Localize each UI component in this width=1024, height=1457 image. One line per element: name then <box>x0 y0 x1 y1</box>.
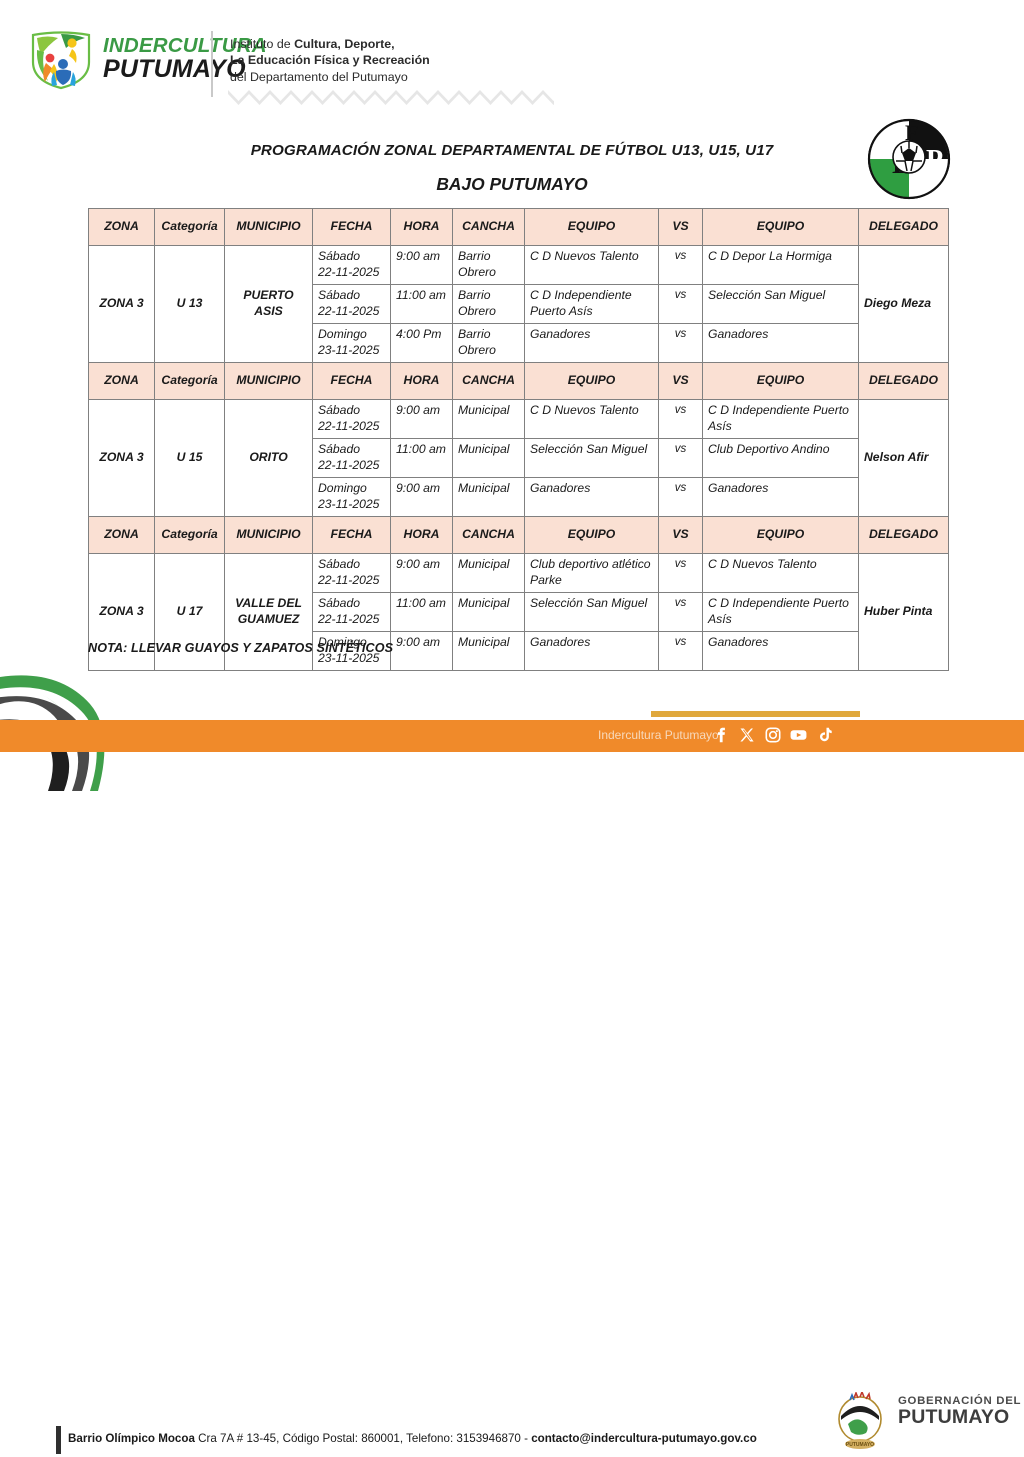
time-cell: 9:00 am <box>391 400 453 439</box>
footer-address: Barrio Olímpico Mocoa Cra 7A # 13-45, Có… <box>68 1432 757 1445</box>
column-header-delegado: DELEGADO <box>859 209 949 246</box>
date-number: 22-11-2025 <box>318 265 385 281</box>
date-cell: Sábado22-11-2025 <box>313 439 391 478</box>
social-handle-label: Indercultura Putumayo <box>598 728 719 742</box>
note-text: NOTA: LLEVAR GUAYOS Y ZAPATOS SINTÉTICOS <box>88 641 393 655</box>
column-header-hora: HORA <box>391 517 453 554</box>
table-header-row: ZONACategoríaMUNICIPIOFECHAHORACANCHAEQU… <box>89 209 949 246</box>
time-cell: 11:00 am <box>391 593 453 632</box>
date-day: Sábado <box>318 557 385 573</box>
column-header-hora: HORA <box>391 363 453 400</box>
column-header-municipio: MUNICIPIO <box>225 517 313 554</box>
versus-cell: vs <box>659 478 703 517</box>
municipality-cell: PUERTO ASIS <box>225 246 313 363</box>
gobernacion-shield-icon: PUTUMAYO <box>828 1392 892 1452</box>
time-cell: 4:00 Pm <box>391 324 453 363</box>
team-home-cell: Selección San Miguel <box>525 593 659 632</box>
column-header-vs: VS <box>659 209 703 246</box>
column-header-categora: Categoría <box>155 209 225 246</box>
team-away-cell: C D Depor La Hormiga <box>703 246 859 285</box>
date-number: 22-11-2025 <box>318 419 385 435</box>
column-header-vs: VS <box>659 517 703 554</box>
address-rest-part: Cra 7A # 13-45, Código Postal: 860001, T… <box>195 1432 531 1445</box>
table-header-row: ZONACategoríaMUNICIPIOFECHAHORACANCHAEQU… <box>89 517 949 554</box>
schedule-table: ZONACategoríaMUNICIPIOFECHAHORACANCHAEQU… <box>88 208 949 671</box>
field-cell: Barrio Obrero <box>453 246 525 285</box>
versus-cell: vs <box>659 285 703 324</box>
date-cell: Domingo23-11-2025 <box>313 324 391 363</box>
field-cell: Municipal <box>453 439 525 478</box>
column-header-cancha: CANCHA <box>453 209 525 246</box>
facebook-icon[interactable] <box>712 726 729 743</box>
column-header-delegado: DELEGADO <box>859 363 949 400</box>
date-cell: Sábado22-11-2025 <box>313 400 391 439</box>
column-header-municipio: MUNICIPIO <box>225 209 313 246</box>
zone-cell: ZONA 3 <box>89 246 155 363</box>
gobernacion-logo-text: GOBERNACIÓN DEL PUTUMAYO <box>898 1396 1021 1428</box>
date-cell: Sábado22-11-2025 <box>313 593 391 632</box>
column-header-zona: ZONA <box>89 363 155 400</box>
date-day: Sábado <box>318 249 385 265</box>
institution-line2: La Educación Física y Recreación <box>230 53 430 67</box>
team-away-cell: Ganadores <box>703 324 859 363</box>
column-header-delegado: DELEGADO <box>859 517 949 554</box>
date-cell: Sábado22-11-2025 <box>313 285 391 324</box>
table-header-row: ZONACategoríaMUNICIPIOFECHAHORACANCHAEQU… <box>89 363 949 400</box>
column-header-categora: Categoría <box>155 363 225 400</box>
column-header-equipo: EQUIPO <box>703 363 859 400</box>
svg-text:PUTUMAYO: PUTUMAYO <box>846 1442 874 1448</box>
address-marker <box>56 1426 61 1454</box>
versus-cell: vs <box>659 246 703 285</box>
delegate-cell: Huber Pinta <box>859 554 949 671</box>
address-bold-part: Barrio Olímpico Mocoa <box>68 1432 195 1445</box>
team-home-cell: C D Nuevos Talento <box>525 246 659 285</box>
table-row: ZONA 3U 13PUERTO ASISSábado22-11-20259:0… <box>89 246 949 285</box>
team-away-cell: C D Independiente Puerto Asís <box>703 400 859 439</box>
contact-email: contacto@indercultura-putumayo.gov.co <box>531 1432 757 1445</box>
team-home-cell: Ganadores <box>525 478 659 517</box>
date-cell: Sábado22-11-2025 <box>313 246 391 285</box>
institution-line3: del Departamento del Putumayo <box>230 70 408 84</box>
team-away-cell: C D Independiente Puerto Asís <box>703 593 859 632</box>
institution-line1-bold: Cultura, Deporte, <box>294 37 395 51</box>
team-home-cell: Club deportivo atlético Parke <box>525 554 659 593</box>
versus-cell: vs <box>659 439 703 478</box>
date-number: 22-11-2025 <box>318 458 385 474</box>
page-header: INDERCULTURA PUTUMAYO Instituto de Cultu… <box>0 0 1024 120</box>
field-cell: Barrio Obrero <box>453 324 525 363</box>
footer-gold-accent <box>651 711 860 717</box>
versus-cell: vs <box>659 593 703 632</box>
team-away-cell: C D Nuevos Talento <box>703 554 859 593</box>
column-header-equipo: EQUIPO <box>525 209 659 246</box>
date-number: 23-11-2025 <box>318 497 385 513</box>
category-cell: U 13 <box>155 246 225 363</box>
versus-cell: vs <box>659 632 703 671</box>
versus-cell: vs <box>659 554 703 593</box>
team-home-cell: C D Independiente Puerto Asís <box>525 285 659 324</box>
chevron-pattern-icon <box>228 88 554 106</box>
date-day: Sábado <box>318 403 385 419</box>
institution-line1-plain: Instituto de <box>230 37 294 51</box>
social-links[interactable] <box>712 726 833 743</box>
youtube-icon[interactable] <box>790 726 807 743</box>
date-number: 22-11-2025 <box>318 612 385 628</box>
column-header-fecha: FECHA <box>313 363 391 400</box>
team-home-cell: C D Nuevos Talento <box>525 400 659 439</box>
date-number: 22-11-2025 <box>318 573 385 589</box>
page-footer: Indercultura Putumayo Barrio Olímpico Mo… <box>0 670 1024 791</box>
table-row: ZONA 3U 17VALLE DEL GUAMUEZSábado22-11-2… <box>89 554 949 593</box>
gobernacion-line1: GOBERNACIÓN DEL <box>898 1396 1021 1408</box>
time-cell: 11:00 am <box>391 285 453 324</box>
column-header-zona: ZONA <box>89 209 155 246</box>
schedule-table-body: ZONACategoríaMUNICIPIOFECHAHORACANCHAEQU… <box>89 209 949 671</box>
date-day: Domingo <box>318 327 385 343</box>
time-cell: 9:00 am <box>391 554 453 593</box>
date-day: Domingo <box>318 481 385 497</box>
field-cell: Municipal <box>453 478 525 517</box>
indercultura-emblem-icon <box>28 28 94 90</box>
time-cell: 11:00 am <box>391 439 453 478</box>
team-home-cell: Ganadores <box>525 324 659 363</box>
date-cell: Domingo23-11-2025 <box>313 478 391 517</box>
field-cell: Municipal <box>453 593 525 632</box>
field-cell: Barrio Obrero <box>453 285 525 324</box>
date-number: 23-11-2025 <box>318 343 385 359</box>
column-header-cancha: CANCHA <box>453 363 525 400</box>
instagram-icon[interactable] <box>764 726 781 743</box>
institution-name: Instituto de Cultura, Deporte, La Educac… <box>230 36 430 85</box>
schedule-table-container: ZONACategoríaMUNICIPIOFECHAHORACANCHAEQU… <box>88 208 948 671</box>
zone-cell: ZONA 3 <box>89 400 155 517</box>
date-number: 22-11-2025 <box>318 304 385 320</box>
team-away-cell: Ganadores <box>703 478 859 517</box>
gobernacion-line2: PUTUMAYO <box>898 1408 1021 1428</box>
delegate-cell: Diego Meza <box>859 246 949 363</box>
footer-orange-bar <box>0 720 1024 752</box>
column-header-cancha: CANCHA <box>453 517 525 554</box>
date-day: Sábado <box>318 596 385 612</box>
column-header-equipo: EQUIPO <box>525 517 659 554</box>
team-home-cell: Selección San Miguel <box>525 439 659 478</box>
svg-text:P: P <box>926 145 943 176</box>
column-header-zona: ZONA <box>89 517 155 554</box>
team-home-cell: Ganadores <box>525 632 659 671</box>
lfp-shield-logo-icon: L F P <box>864 117 954 201</box>
field-cell: Municipal <box>453 632 525 671</box>
x-twitter-icon[interactable] <box>738 726 755 743</box>
date-day: Sábado <box>318 442 385 458</box>
column-header-categora: Categoría <box>155 517 225 554</box>
column-header-municipio: MUNICIPIO <box>225 363 313 400</box>
versus-cell: vs <box>659 400 703 439</box>
field-cell: Municipal <box>453 400 525 439</box>
date-day: Sábado <box>318 288 385 304</box>
table-row: ZONA 3U 15ORITOSábado22-11-20259:00 amMu… <box>89 400 949 439</box>
team-away-cell: Ganadores <box>703 632 859 671</box>
column-header-equipo: EQUIPO <box>703 209 859 246</box>
team-away-cell: Selección San Miguel <box>703 285 859 324</box>
date-cell: Sábado22-11-2025 <box>313 554 391 593</box>
time-cell: 9:00 am <box>391 478 453 517</box>
tiktok-icon[interactable] <box>816 726 833 743</box>
versus-cell: vs <box>659 324 703 363</box>
municipality-cell: ORITO <box>225 400 313 517</box>
header-divider <box>211 31 213 97</box>
time-cell: 9:00 am <box>391 246 453 285</box>
column-header-fecha: FECHA <box>313 209 391 246</box>
time-cell: 9:00 am <box>391 632 453 671</box>
column-header-vs: VS <box>659 363 703 400</box>
field-cell: Municipal <box>453 554 525 593</box>
delegate-cell: Nelson Afir <box>859 400 949 517</box>
team-away-cell: Club Deportivo Andino <box>703 439 859 478</box>
column-header-equipo: EQUIPO <box>703 517 859 554</box>
column-header-fecha: FECHA <box>313 517 391 554</box>
column-header-equipo: EQUIPO <box>525 363 659 400</box>
column-header-hora: HORA <box>391 209 453 246</box>
category-cell: U 15 <box>155 400 225 517</box>
